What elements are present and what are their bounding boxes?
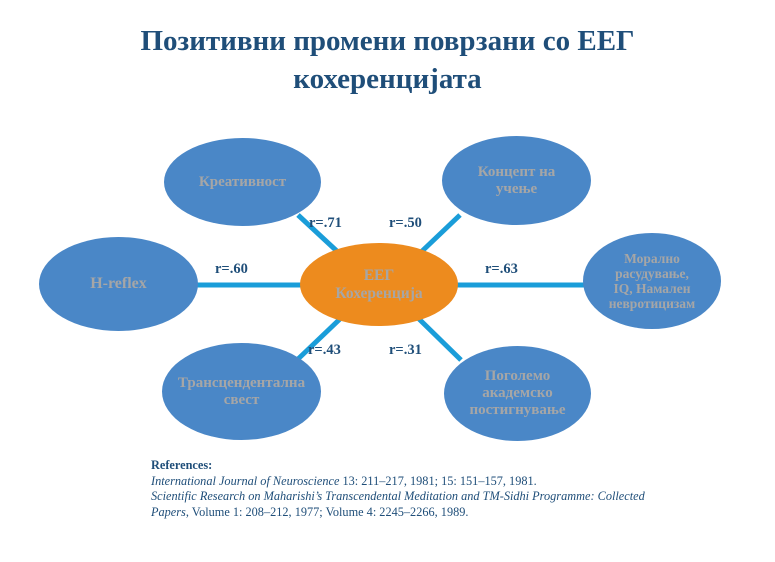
page-title-line-2: кохеренцијата (0, 60, 775, 98)
reference-entry-1-title: International Journal of Neuroscience (151, 474, 339, 488)
references-heading: References: (151, 458, 651, 474)
node-academic-achievement[interactable]: Поголемо академско постигнување (444, 346, 591, 441)
page-title: Позитивни промени поврзани со ЕЕГ кохере… (0, 22, 775, 98)
reference-entry-1: International Journal of Neuroscience 13… (151, 474, 651, 490)
correlation-label-creativity: r=.71 (309, 215, 342, 232)
reference-entry-1-detail: 13: 211–217, 1981; 15: 151–157, 1981. (339, 474, 536, 488)
references-block: References: International Journal of Neu… (151, 458, 651, 520)
node-h-reflex[interactable]: H-reflex (39, 237, 198, 331)
node-learning-concept-label: Концепт на учење (478, 164, 555, 198)
node-transcendental-consciousness[interactable]: Трансцендентална свест (162, 343, 321, 440)
node-eeg-coherence-label: ЕЕГ Кохеренција (335, 267, 422, 302)
correlation-label-academic: r=.31 (389, 342, 422, 359)
node-moral-reasoning[interactable]: Морално расудување, IQ, Намален невротиц… (583, 233, 721, 329)
node-creativity[interactable]: Креативност (164, 138, 321, 226)
node-eeg-coherence[interactable]: ЕЕГ Кохеренција (300, 243, 458, 326)
node-transcendental-consciousness-label: Трансцендентална свест (178, 375, 305, 409)
reference-entry-2: Scientific Research on Maharishi’s Trans… (151, 489, 651, 520)
reference-entry-2-detail: , Volume 1: 208–212, 1977; Volume 4: 224… (186, 505, 469, 519)
correlation-label-moral: r=.63 (485, 261, 518, 278)
node-academic-achievement-label: Поголемо академско постигнување (470, 368, 566, 418)
connector-academic (418, 318, 461, 360)
node-creativity-label: Креативност (199, 174, 286, 191)
node-h-reflex-label: H-reflex (90, 275, 147, 293)
eeg-coherence-diagram: Креативност Концепт на учење H-reflex Мо… (0, 120, 775, 455)
correlation-label-h-reflex: r=.60 (215, 261, 248, 278)
node-learning-concept[interactable]: Концепт на учење (442, 136, 591, 225)
correlation-label-learning: r=.50 (389, 215, 422, 232)
connector-learning (419, 215, 460, 254)
node-moral-reasoning-label: Морално расудување, IQ, Намален невротиц… (609, 251, 695, 311)
correlation-label-transcendental: r=.43 (308, 342, 341, 359)
page-title-line-1: Позитивни промени поврзани со ЕЕГ (0, 22, 775, 60)
